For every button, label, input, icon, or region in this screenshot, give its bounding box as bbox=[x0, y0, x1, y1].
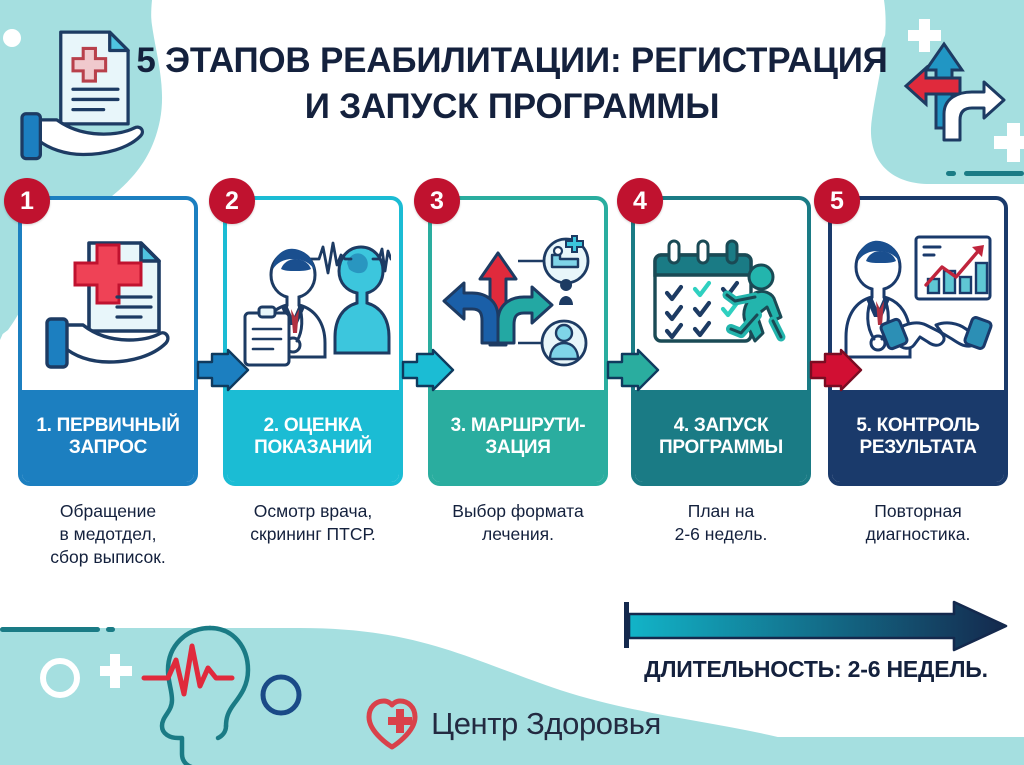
step-2-label-line-1: 2. ОЦЕНКА bbox=[264, 415, 363, 436]
brand-logo-text: Центр Здоровья bbox=[431, 706, 661, 742]
brand-logo[interactable]: Центр Здоровья bbox=[0, 697, 1024, 751]
step-1-label-line-2: ЗАПРОС bbox=[69, 437, 147, 458]
duration-label: ДЛИТЕЛЬНОСТЬ: 2-6 НЕДЕЛЬ. bbox=[624, 656, 1008, 683]
hand-holding-medical-document-icon bbox=[22, 200, 194, 400]
step-2-card-frame: 2. ОЦЕНКА ПОКАЗАНИЙ bbox=[223, 196, 403, 486]
step-5-caption: Повторная диагностика. bbox=[828, 500, 1008, 546]
branching-arrows-routing-icon bbox=[432, 200, 604, 400]
step-4-label: 4. ЗАПУСК ПРОГРАММЫ bbox=[631, 390, 811, 484]
step-4-label-line-1: 4. ЗАПУСК bbox=[674, 415, 769, 436]
connector-arrow-2 bbox=[401, 348, 455, 392]
step-5-badge: 5 bbox=[814, 178, 860, 224]
step-2-badge: 2 bbox=[209, 178, 255, 224]
connector-arrow-1 bbox=[196, 348, 250, 392]
duration-block: ДЛИТЕЛЬНОСТЬ: 2-6 НЕДЕЛЬ. bbox=[624, 600, 1008, 683]
infographic-canvas: 5 ЭТАПОВ РЕАБИЛИТАЦИИ: РЕГИСТРАЦИЯ И ЗАП… bbox=[0, 0, 1024, 765]
step-3-label-line-1: 3. МАРШРУТИ- bbox=[451, 415, 586, 436]
step-3-label: 3. МАРШРУТИ- ЗАЦИЯ bbox=[428, 390, 608, 484]
plus-decor-bottomleft bbox=[100, 654, 132, 688]
step-5-label-line-1: 5. КОНТРОЛЬ bbox=[856, 415, 979, 436]
doctor-patient-assessment-icon bbox=[227, 200, 399, 400]
step-1-caption: Обращение в медотдел, сбор выписок. bbox=[18, 500, 198, 569]
step-4-card-frame: 4. ЗАПУСК ПРОГРАММЫ bbox=[631, 196, 811, 486]
steps-row: 1. ПЕРВИЧНЫЙ ЗАПРОС 1 Обращение в медотд… bbox=[18, 196, 1008, 586]
duration-arrow-icon bbox=[624, 600, 1008, 652]
step-1-label-line-1: 1. ПЕРВИЧНЫЙ bbox=[36, 415, 179, 436]
step-card-1[interactable]: 1. ПЕРВИЧНЫЙ ЗАПРОС 1 Обращение в медотд… bbox=[18, 196, 198, 569]
step-2-caption: Осмотр врача, скрининг ПТСР. bbox=[223, 500, 403, 546]
step-3-badge: 3 bbox=[414, 178, 460, 224]
dash-decor-bottomleft bbox=[0, 627, 115, 632]
connector-arrow-3 bbox=[606, 348, 660, 392]
page-title: 5 ЭТАПОВ РЕАБИЛИТАЦИИ: РЕГИСТРАЦИЯ И ЗАП… bbox=[0, 38, 1024, 130]
decor-ring-white bbox=[43, 661, 77, 695]
calendar-checklist-runner-icon bbox=[635, 200, 807, 400]
step-1-label: 1. ПЕРВИЧНЫЙ ЗАПРОС bbox=[18, 390, 198, 484]
title-line-1: 5 ЭТАПОВ РЕАБИЛИТАЦИИ: РЕГИСТРАЦИЯ bbox=[0, 38, 1024, 84]
step-card-2[interactable]: 2. ОЦЕНКА ПОКАЗАНИЙ 2 Осмотр врача, скри… bbox=[223, 196, 403, 546]
step-4-caption: План на 2-6 недель. bbox=[631, 500, 811, 546]
step-4-badge: 4 bbox=[617, 178, 663, 224]
step-3-caption: Выбор формата лечения. bbox=[428, 500, 608, 546]
dash-decor-topright bbox=[946, 171, 1024, 176]
step-card-3[interactable]: 3. МАРШРУТИ- ЗАЦИЯ 3 Выбор формата лечен… bbox=[428, 196, 608, 546]
step-3-label-line-2: ЗАЦИЯ bbox=[485, 437, 550, 458]
connector-arrow-4 bbox=[809, 348, 863, 392]
step-2-label: 2. ОЦЕНКА ПОКАЗАНИЙ bbox=[223, 390, 403, 484]
heart-cross-logo-icon bbox=[363, 697, 421, 751]
step-1-badge: 1 bbox=[4, 178, 50, 224]
step-3-card-frame: 3. МАРШРУТИ- ЗАЦИЯ bbox=[428, 196, 608, 486]
step-4-label-line-2: ПРОГРАММЫ bbox=[659, 437, 783, 458]
title-line-2: И ЗАПУСК ПРОГРАММЫ bbox=[0, 84, 1024, 130]
step-5-label: 5. КОНТРОЛЬ РЕЗУЛЬТАТА bbox=[828, 390, 1008, 484]
step-1-card-frame: 1. ПЕРВИЧНЫЙ ЗАПРОС bbox=[18, 196, 198, 486]
step-5-card-frame: 5. КОНТРОЛЬ РЕЗУЛЬТАТА bbox=[828, 196, 1008, 486]
step-2-label-line-2: ПОКАЗАНИЙ bbox=[254, 437, 372, 458]
step-5-label-line-2: РЕЗУЛЬТАТА bbox=[859, 437, 976, 458]
